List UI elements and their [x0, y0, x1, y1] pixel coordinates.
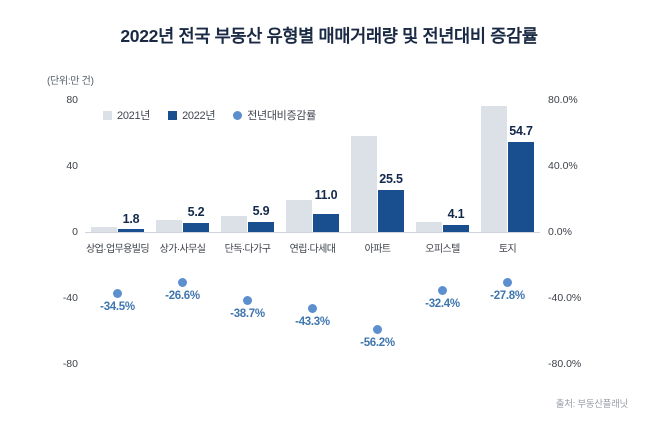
- left-axis: 80 40 0 -40 -80: [48, 100, 78, 364]
- yoy-dot: [178, 278, 187, 287]
- left-axis-tick: 40: [66, 160, 78, 172]
- yoy-dot: [113, 289, 122, 298]
- bar-2021: [286, 200, 312, 232]
- bar-2021: [156, 220, 182, 232]
- page-title: 2022년 전국 부동산 유형별 매매거래량 및 전년대비 증감률: [0, 23, 658, 48]
- bar-2022: [313, 214, 339, 232]
- yoy-label: -34.5%: [78, 301, 157, 313]
- plot-area: 1.8 상업·업무용빌딩 -34.5% 5.2 상가·사무실 -26.6% 5.…: [85, 100, 540, 364]
- bar-2022: [248, 222, 274, 232]
- left-axis-tick: -80: [63, 358, 78, 370]
- left-axis-tick: -40: [63, 292, 78, 304]
- bar-group: 5.2 상가·사무실 -26.6%: [150, 100, 215, 364]
- bar-group: 11.0 연립·다세대 -43.3%: [280, 100, 345, 364]
- bar-group: 5.9 단독·다가구 -38.7%: [215, 100, 280, 364]
- category-label: 토지: [475, 240, 540, 255]
- bar-2021: [221, 216, 247, 232]
- yoy-dot: [308, 304, 317, 313]
- right-axis-tick: -40.0%: [548, 292, 581, 304]
- bar-2022: [508, 142, 534, 232]
- bar-2022: [443, 225, 469, 232]
- category-label: 오피스텔: [410, 240, 475, 255]
- bar-group: 1.8 상업·업무용빌딩 -34.5%: [85, 100, 150, 364]
- bar-group: 54.7 토지 -27.8%: [475, 100, 540, 364]
- right-axis: 80.0% 40.0% 0.0% -40.0% -80.0%: [548, 100, 618, 364]
- chart-page: 2022년 전국 부동산 유형별 매매거래량 및 전년대비 증감률 (단위:만 …: [0, 0, 658, 428]
- yoy-label: -43.3%: [273, 316, 352, 328]
- yoy-label: -26.6%: [143, 290, 222, 302]
- left-axis-tick: 80: [66, 94, 78, 106]
- right-axis-tick: 40.0%: [548, 160, 578, 172]
- right-axis-tick: -80.0%: [548, 358, 581, 370]
- right-axis-tick: 0.0%: [548, 226, 572, 238]
- bar-2021: [416, 222, 442, 232]
- left-axis-tick: 0: [72, 226, 78, 238]
- unit-label: (단위:만 건): [47, 72, 94, 87]
- bar-group: 4.1 오피스텔 -32.4%: [410, 100, 475, 364]
- bar-group: 25.5 아파트 -56.2%: [345, 100, 410, 364]
- source-label: 출처: 부동산플래닛: [556, 396, 628, 410]
- yoy-dot: [438, 286, 447, 295]
- yoy-dot: [373, 325, 382, 334]
- yoy-label: -27.8%: [468, 290, 547, 302]
- yoy-label: -56.2%: [338, 337, 417, 349]
- right-axis-tick: 80.0%: [548, 94, 578, 106]
- bar-2022: [118, 229, 144, 232]
- bar-2022: [183, 223, 209, 232]
- category-label: 연립·다세대: [274, 240, 351, 255]
- category-label: 아파트: [345, 240, 410, 255]
- bar-value-label: 54.7: [493, 124, 549, 138]
- yoy-dot: [503, 278, 512, 287]
- yoy-dot: [243, 296, 252, 305]
- bar-2021: [91, 227, 117, 232]
- bar-2022: [378, 190, 404, 232]
